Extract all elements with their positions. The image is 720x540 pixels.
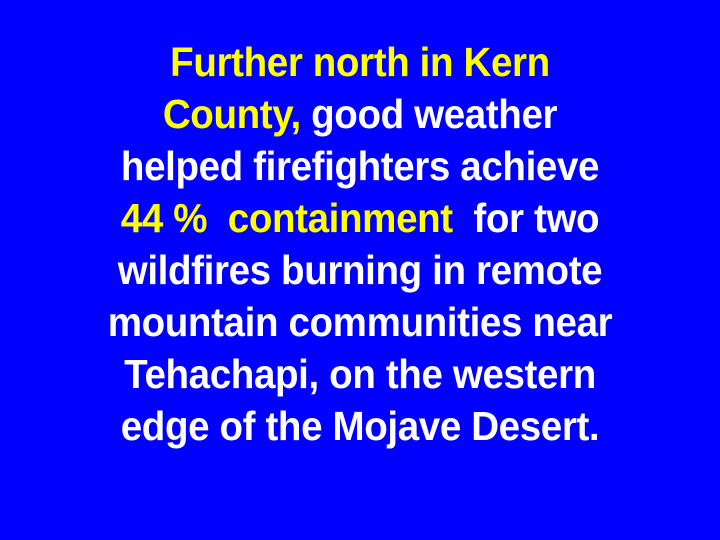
- caption-line: wildfires burning in remote: [35, 244, 685, 296]
- caption-body-text: good weather: [301, 91, 557, 137]
- caption-body-text: edge of the Mojave Desert.: [121, 403, 600, 449]
- caption-line: edge of the Mojave Desert.: [35, 400, 685, 452]
- caption-highlight-text: Further north in Kern: [170, 39, 550, 85]
- caption-line: helped firefighters achieve: [35, 140, 685, 192]
- caption-body-text: Tehachapi, on the western: [124, 351, 596, 397]
- caption-text-block: Further north in KernCounty, good weathe…: [0, 36, 720, 452]
- slide-canvas: Further north in KernCounty, good weathe…: [0, 0, 720, 540]
- caption-line: Tehachapi, on the western: [35, 348, 685, 400]
- caption-body-text: for two: [453, 195, 599, 241]
- caption-highlight-text: County,: [163, 91, 301, 137]
- caption-line: 44 % containment for two: [35, 192, 685, 244]
- caption-line: Further north in Kern: [35, 36, 685, 88]
- caption-body-text: helped firefighters achieve: [121, 143, 599, 189]
- caption-highlight-text: 44 % containment: [121, 195, 453, 241]
- caption-line: County, good weather: [35, 88, 685, 140]
- caption-body-text: wildfires burning in remote: [118, 247, 602, 293]
- caption-body-text: mountain communities near: [108, 299, 613, 345]
- caption-line: mountain communities near: [35, 296, 685, 348]
